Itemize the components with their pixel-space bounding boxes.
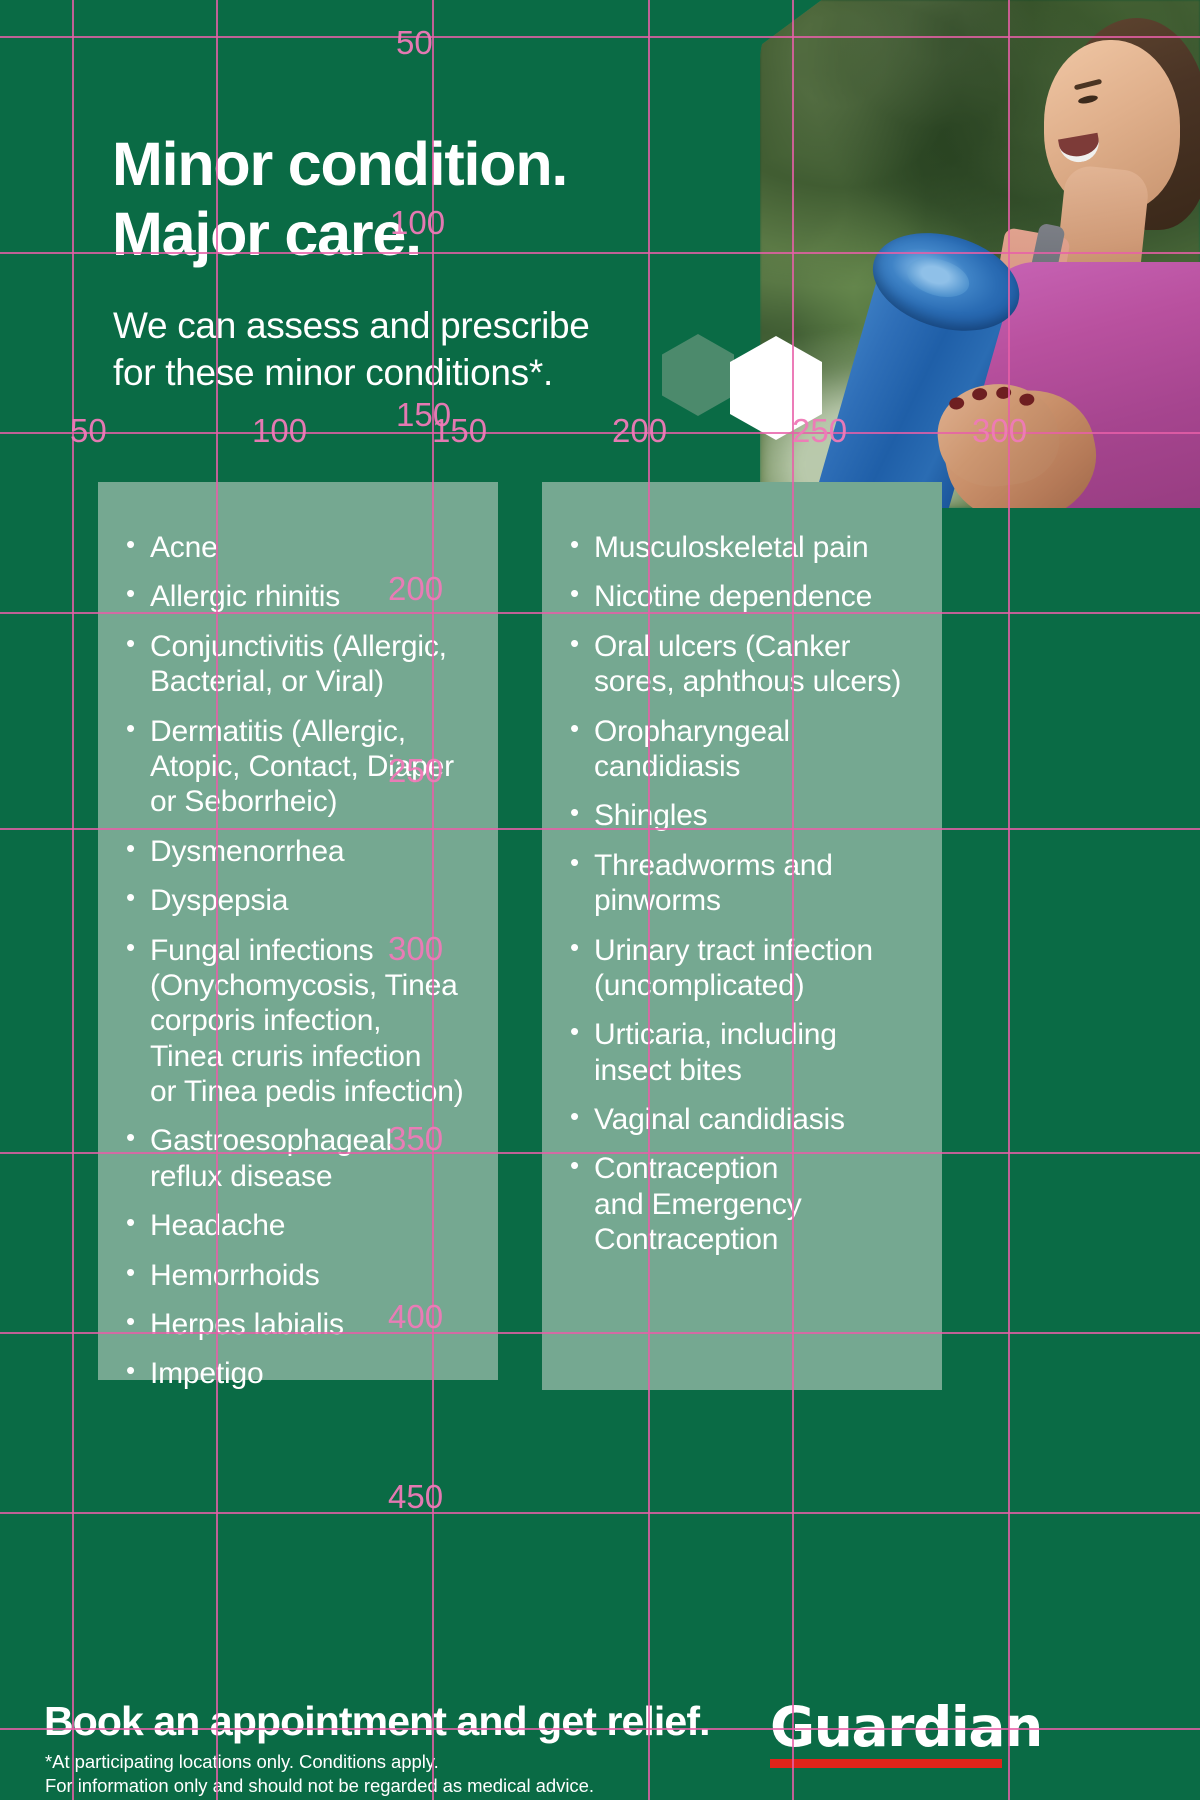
photo-clip bbox=[760, 0, 1200, 508]
guardian-logo: Guardian bbox=[770, 1700, 1002, 1768]
list-item: Dermatitis (Allergic, Atopic, Contact, D… bbox=[122, 714, 522, 820]
conditions-column-right: Musculoskeletal pain Nicotine dependence… bbox=[566, 530, 966, 1272]
list-item: Impetigo bbox=[122, 1356, 522, 1391]
disclaimer-text: *At participating locations only. Condit… bbox=[45, 1750, 594, 1799]
grid-tick-label: 150 bbox=[432, 412, 487, 450]
guardian-logo-wordmark: Guardian bbox=[770, 1700, 1002, 1755]
list-item: Headache bbox=[122, 1208, 522, 1243]
page-subtitle: We can assess and prescribe for these mi… bbox=[113, 303, 590, 396]
list-item: Dyspepsia bbox=[122, 883, 522, 918]
list-item: Contraception and Emergency Contraceptio… bbox=[566, 1151, 966, 1257]
list-item: Nicotine dependence bbox=[566, 579, 966, 614]
list-item: Vaginal candidiasis bbox=[566, 1102, 966, 1137]
conditions-column-left: Acne Allergic rhinitis Conjunctivitis (A… bbox=[122, 530, 522, 1406]
grid-tick-label: 100 bbox=[252, 412, 307, 450]
photo-fingernail bbox=[971, 387, 988, 401]
list-item: Conjunctivitis (Allergic, Bacterial, or … bbox=[122, 629, 522, 700]
hexagon-sage-icon bbox=[662, 334, 734, 416]
grid-tick-label: 200 bbox=[612, 412, 667, 450]
conditions-list-right: Musculoskeletal pain Nicotine dependence… bbox=[566, 530, 966, 1258]
list-item: Gastroesophageal reflux disease bbox=[122, 1123, 522, 1194]
list-item: Oropharyngeal candidiasis bbox=[566, 714, 966, 785]
list-item: Allergic rhinitis bbox=[122, 579, 522, 614]
list-item: Shingles bbox=[566, 798, 966, 833]
grid-line-horizontal bbox=[0, 1512, 1200, 1514]
list-item: Dysmenorrhea bbox=[122, 834, 522, 869]
pharmacy-minor-conditions-poster: Minor condition. Major care. We can asse… bbox=[0, 0, 1200, 1800]
grid-tick-label: 450 bbox=[388, 1478, 443, 1516]
grid-tick-label: 150 bbox=[396, 396, 451, 434]
grid-tick-label: 50 bbox=[396, 24, 433, 62]
list-item: Oral ulcers (Canker sores, aphthous ulce… bbox=[566, 629, 966, 700]
list-item: Urticaria, including insect bites bbox=[566, 1017, 966, 1088]
list-item: Acne bbox=[122, 530, 522, 565]
photo-fingernail bbox=[995, 386, 1012, 400]
photo-fingernail bbox=[1019, 393, 1036, 407]
photo-fingernail bbox=[948, 396, 965, 410]
list-item: Musculoskeletal pain bbox=[566, 530, 966, 565]
guardian-logo-red-bar bbox=[770, 1759, 1002, 1768]
hero-photo bbox=[760, 0, 1200, 508]
list-item: Hemorrhoids bbox=[122, 1258, 522, 1293]
page-title: Minor condition. Major care. bbox=[112, 130, 567, 269]
conditions-list-left: Acne Allergic rhinitis Conjunctivitis (A… bbox=[122, 530, 522, 1392]
list-item: Herpes labialis bbox=[122, 1307, 522, 1342]
grid-tick-label: 50 bbox=[70, 412, 107, 450]
grid-line-vertical bbox=[72, 0, 74, 1800]
list-item: Urinary tract infection (uncomplicated) bbox=[566, 933, 966, 1004]
list-item: Fungal infections (Onychomycosis, Tinea … bbox=[122, 933, 522, 1110]
list-item: Threadworms and pinworms bbox=[566, 848, 966, 919]
call-to-action-text: Book an appointment and get relief. bbox=[44, 1698, 710, 1745]
